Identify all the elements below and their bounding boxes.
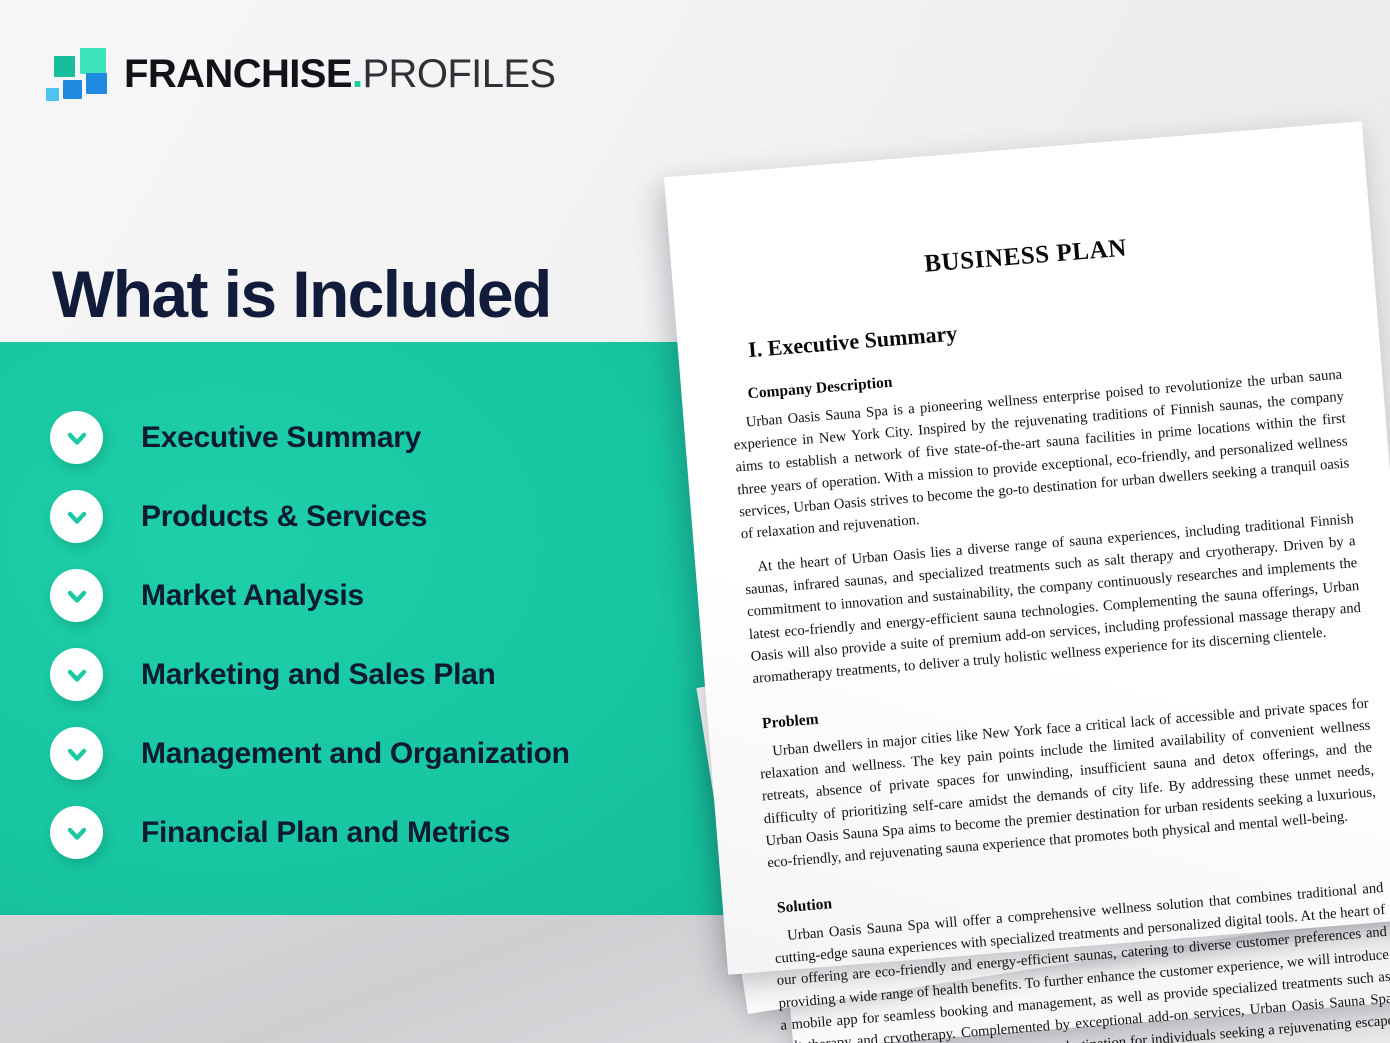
included-list: Executive Summary Products & Services Ma… xyxy=(0,342,737,915)
list-item[interactable]: Products & Services xyxy=(0,477,737,556)
list-item[interactable]: Management and Organization xyxy=(0,714,737,793)
list-item[interactable]: Financial Plan and Metrics xyxy=(0,793,737,872)
logo-square-sky xyxy=(46,88,59,101)
chevron-down-icon xyxy=(50,411,103,464)
list-item-label: Market Analysis xyxy=(141,579,364,613)
list-item[interactable]: Executive Summary xyxy=(0,398,737,477)
document-title: BUSINESS PLAN xyxy=(719,218,1331,295)
page-title: What is Included xyxy=(52,260,551,329)
brand-name-bold: FRANCHISE xyxy=(124,52,352,96)
logo-square-blue-small xyxy=(63,80,82,99)
list-item[interactable]: Market Analysis xyxy=(0,556,737,635)
chevron-down-icon xyxy=(50,806,103,859)
logo-square-teal-dark xyxy=(54,56,75,77)
chevron-down-icon xyxy=(50,648,103,701)
chevron-down-icon xyxy=(50,569,103,622)
slide-canvas: FRANCHISE.PROFILES What is Included Exec… xyxy=(0,0,1390,1043)
chevron-down-icon xyxy=(50,727,103,780)
list-item[interactable]: Marketing and Sales Plan xyxy=(0,635,737,714)
document-stack: destination for individuals seeking a re… xyxy=(660,120,1390,1040)
five-squares-mark-icon xyxy=(46,48,108,100)
list-item-label: Financial Plan and Metrics xyxy=(141,816,510,850)
brand-wordmark: FRANCHISE.PROFILES xyxy=(124,54,556,94)
logo-square-blue-large xyxy=(86,73,107,94)
list-item-label: Marketing and Sales Plan xyxy=(141,658,496,692)
brand-name-light: PROFILES xyxy=(362,52,555,96)
document-page-front[interactable]: BUSINESS PLAN I. Executive Summary Compa… xyxy=(664,121,1390,975)
list-item-label: Management and Organization xyxy=(141,737,570,771)
chevron-down-icon xyxy=(50,490,103,543)
list-item-label: Products & Services xyxy=(141,500,427,534)
logo-square-teal-light xyxy=(80,48,106,74)
list-item-label: Executive Summary xyxy=(141,421,421,455)
brand-logo[interactable]: FRANCHISE.PROFILES xyxy=(46,42,556,106)
brand-name-dot: . xyxy=(352,52,363,96)
